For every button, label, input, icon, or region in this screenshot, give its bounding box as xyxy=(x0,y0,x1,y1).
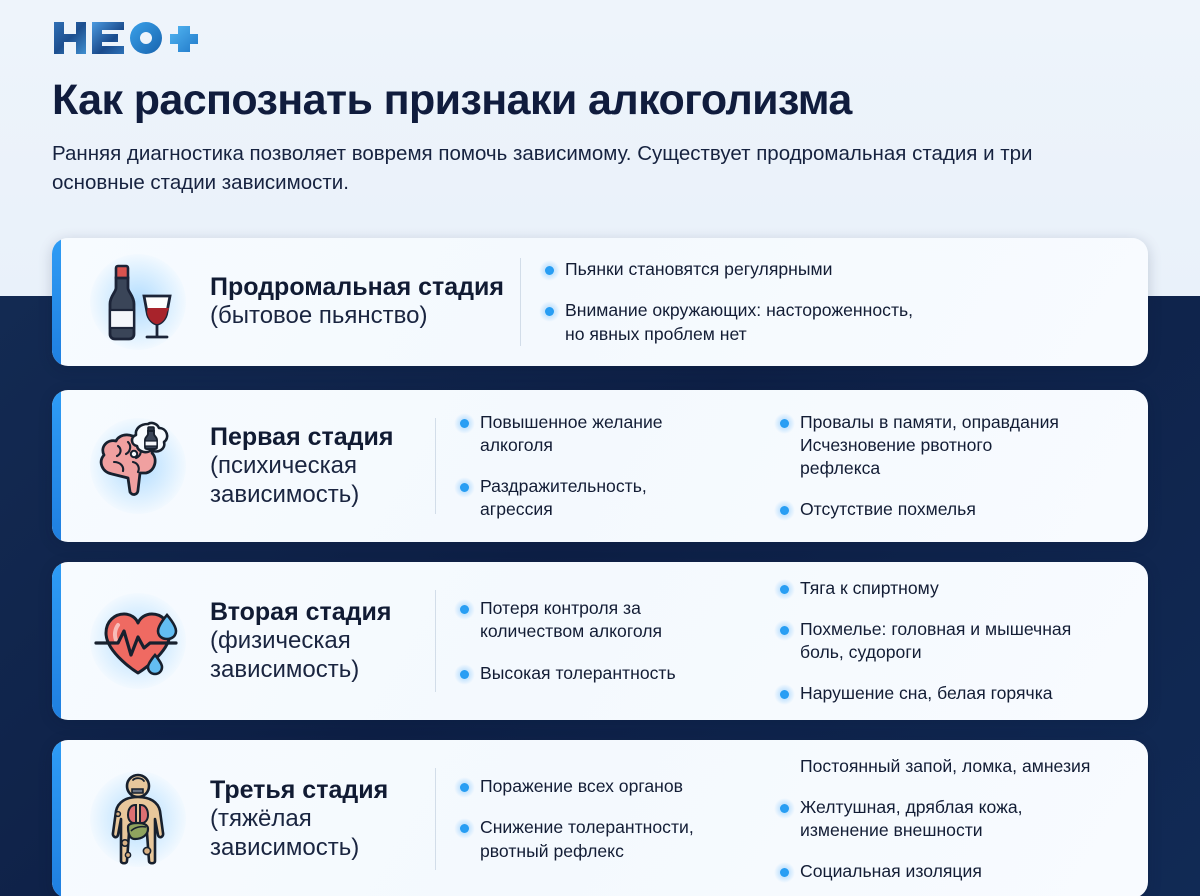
list-item: Поражение всех органов xyxy=(460,775,742,798)
list-item: Постоянный запой, ломка, амнезия xyxy=(780,755,1134,778)
stage-subtitle: (тяжёлая зависимость) xyxy=(210,805,419,863)
list-item: Снижение толерантности, рвотный рефлекс xyxy=(460,816,742,862)
list-item-text: Желтушная, дряблая кожа, изменение внешн… xyxy=(800,796,1023,842)
list-item: Высокая толерантность xyxy=(460,662,742,685)
card-heading: Продромальная стадия (бытовое пьянство) xyxy=(210,238,520,366)
list-item-text: Снижение толерантности, рвотный рефлекс xyxy=(480,816,694,862)
human-body-organs-icon xyxy=(88,769,188,869)
stage-subtitle: (физическая зависимость) xyxy=(210,627,419,685)
stage-card-second[interactable]: Вторая стадия (физическая зависимость) П… xyxy=(52,562,1148,720)
list-item: Нарушение сна, белая горячка xyxy=(780,682,1134,705)
bullet-column: Постоянный запой, ломка, амнезия Желтушн… xyxy=(756,746,1148,893)
list-item-text: Высокая толерантность xyxy=(480,662,676,685)
card-icon xyxy=(52,390,210,542)
stage-name: Вторая стадия xyxy=(210,598,419,627)
card-heading: Первая стадия (психическая зависимость) xyxy=(210,390,435,542)
list-item-text: Потеря контроля за количеством алкоголя xyxy=(480,597,662,643)
list-item-text: Пьянки становятся регулярными xyxy=(565,258,832,281)
card-heading: Третья стадия (тяжёлая зависимость) xyxy=(210,740,435,896)
card-accent-bar xyxy=(52,740,61,896)
card-icon xyxy=(52,740,210,896)
list-item-text: Тяга к спиртному xyxy=(800,577,939,600)
card-icon xyxy=(52,562,210,720)
page-subtitle: Ранняя диагностика позволяет вовремя пом… xyxy=(52,139,1092,197)
list-item-text: Нарушение сна, белая горячка xyxy=(800,682,1053,705)
list-item: Социальная изоляция xyxy=(780,860,1134,883)
list-item: Раздражительность, агрессия xyxy=(460,475,742,521)
card-columns: Поражение всех органов Снижение толерант… xyxy=(436,740,1148,896)
bullet-dot-icon xyxy=(460,824,469,833)
list-item: Провалы в памяти, оправдания Исчезновени… xyxy=(780,411,1134,481)
list-item: Желтушная, дряблая кожа, изменение внешн… xyxy=(780,796,1134,842)
card-accent-bar xyxy=(52,238,61,366)
list-item: Тяга к спиртному xyxy=(780,577,1134,600)
card-columns: Пьянки становятся регулярными Внимание о… xyxy=(521,238,1148,366)
bullet-column: Потеря контроля за количеством алкоголя … xyxy=(436,588,756,694)
list-item-text: Раздражительность, агрессия xyxy=(480,475,647,521)
page-title: Как распознать признаки алкоголизма xyxy=(52,78,1152,123)
bullet-dot-icon xyxy=(780,868,789,877)
bullet-dot-icon xyxy=(780,690,789,699)
stage-name: Первая стадия xyxy=(210,423,419,452)
bullet-dot-icon xyxy=(460,670,469,679)
bullet-dot-icon xyxy=(780,506,789,515)
list-item: Отсутствие похмелья xyxy=(780,498,1134,521)
list-item: Потеря контроля за количеством алкоголя xyxy=(460,597,742,643)
bullet-dot-icon xyxy=(460,419,469,428)
stage-card-third[interactable]: Третья стадия (тяжёлая зависимость) Пора… xyxy=(52,740,1148,896)
bullet-column: Тяга к спиртному Похмелье: головная и мы… xyxy=(756,568,1148,715)
bullet-dot-icon xyxy=(545,266,554,275)
card-accent-bar xyxy=(52,562,61,720)
stage-card-prodromal[interactable]: Продромальная стадия (бытовое пьянство) … xyxy=(52,238,1148,366)
bullet-dot-icon xyxy=(460,783,469,792)
list-item-text: Поражение всех органов xyxy=(480,775,683,798)
bullet-column: Пьянки становятся регулярными Внимание о… xyxy=(521,249,1148,355)
stage-subtitle: (психическая зависимость) xyxy=(210,452,419,510)
brain-with-bottle-thought-icon xyxy=(88,416,188,516)
card-heading: Вторая стадия (физическая зависимость) xyxy=(210,562,435,720)
bullet-dot-icon xyxy=(545,307,554,316)
bullet-dot-icon xyxy=(460,483,469,492)
list-item-text: Провалы в памяти, оправдания Исчезновени… xyxy=(800,411,1059,481)
list-item: Похмелье: головная и мышечная боль, судо… xyxy=(780,618,1134,664)
stage-card-first[interactable]: Первая стадия (психическая зависимость) … xyxy=(52,390,1148,542)
stage-name: Продромальная стадия xyxy=(210,273,504,302)
bullet-column: Повышенное желание алкоголя Раздражитель… xyxy=(436,402,756,531)
list-item: Пьянки становятся регулярными xyxy=(545,258,1134,281)
card-columns: Повышенное желание алкоголя Раздражитель… xyxy=(436,390,1148,542)
stage-name: Третья стадия xyxy=(210,776,419,805)
bullet-dot-icon xyxy=(780,419,789,428)
bullet-column: Поражение всех органов Снижение толерант… xyxy=(436,766,756,872)
bullet-dot-icon xyxy=(460,605,469,614)
list-item-text: Постоянный запой, ломка, амнезия xyxy=(800,755,1090,778)
card-accent-bar xyxy=(52,390,61,542)
stage-subtitle: (бытовое пьянство) xyxy=(210,302,504,331)
bullet-dot-icon xyxy=(780,585,789,594)
heart-with-pulse-and-sweat-icon xyxy=(88,591,188,691)
list-item: Повышенное желание алкоголя xyxy=(460,411,742,457)
bullet-dot-icon xyxy=(780,763,789,772)
bullet-dot-icon xyxy=(780,804,789,813)
card-columns: Потеря контроля за количеством алкоголя … xyxy=(436,562,1148,720)
list-item-text: Отсутствие похмелья xyxy=(800,498,976,521)
list-item-text: Внимание окружающих: настороженность, но… xyxy=(565,299,913,345)
list-item: Внимание окружающих: настороженность, но… xyxy=(545,299,1134,345)
bullet-dot-icon xyxy=(780,626,789,635)
page-header: Как распознать признаки алкоголизма Ранн… xyxy=(52,0,1152,197)
bullet-column: Провалы в памяти, оправдания Исчезновени… xyxy=(756,402,1148,531)
neo-plus-logo-icon xyxy=(52,18,202,58)
list-item-text: Похмелье: головная и мышечная боль, судо… xyxy=(800,618,1071,664)
brand-logo xyxy=(52,16,1152,60)
list-item-text: Повышенное желание алкоголя xyxy=(480,411,663,457)
list-item-text: Социальная изоляция xyxy=(800,860,982,883)
card-icon xyxy=(52,238,210,366)
wine-bottle-and-glass-icon xyxy=(90,254,186,350)
